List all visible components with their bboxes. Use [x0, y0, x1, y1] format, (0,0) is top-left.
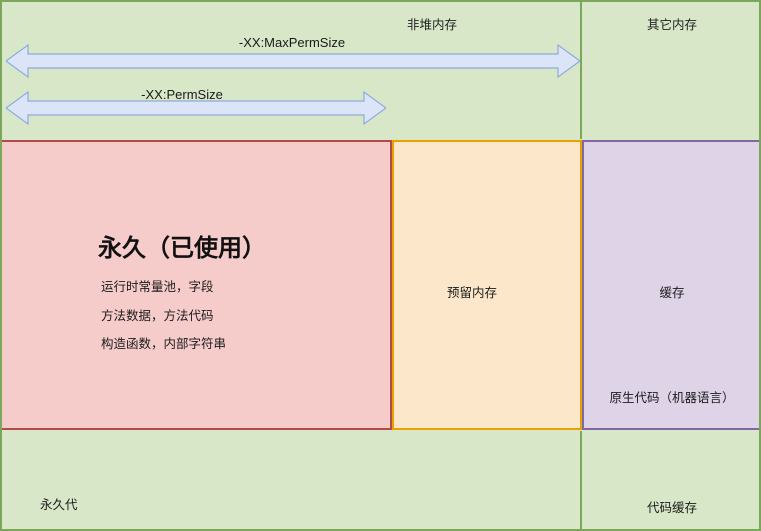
perm-used-detail-line: 运行时常量池，字段: [101, 276, 214, 295]
perm-gen-label: 永久代: [40, 494, 78, 513]
code-cache-label: 代码缓存: [647, 497, 697, 516]
reserved-memory-label: 预留内存: [447, 282, 497, 301]
double-headed-arrow-icon: [6, 41, 580, 81]
perm-size-arrow: [6, 88, 386, 128]
perm-used-detail-line: 构造函数，内部字符串: [101, 333, 226, 352]
double-headed-arrow-icon: [6, 88, 386, 128]
non-heap-memory-label: 非堆内存: [407, 14, 457, 33]
bottom-band: [2, 431, 759, 529]
bottom-band-divider: [580, 431, 582, 529]
perm-used-heading: 永久（已使用）: [98, 228, 266, 263]
cache-label: 缓存: [659, 282, 684, 301]
other-memory-label: 其它内存: [647, 14, 697, 33]
top-band-divider: [580, 2, 582, 139]
perm-used-detail-line: 方法数据，方法代码: [101, 305, 214, 324]
native-code-label: 原生代码（机器语言）: [609, 387, 734, 406]
memory-layout-diagram: 非堆内存 其它内存 -XX:MaxPermSize -XX:PermSize 永…: [0, 0, 761, 531]
max-perm-size-arrow: [6, 41, 580, 81]
